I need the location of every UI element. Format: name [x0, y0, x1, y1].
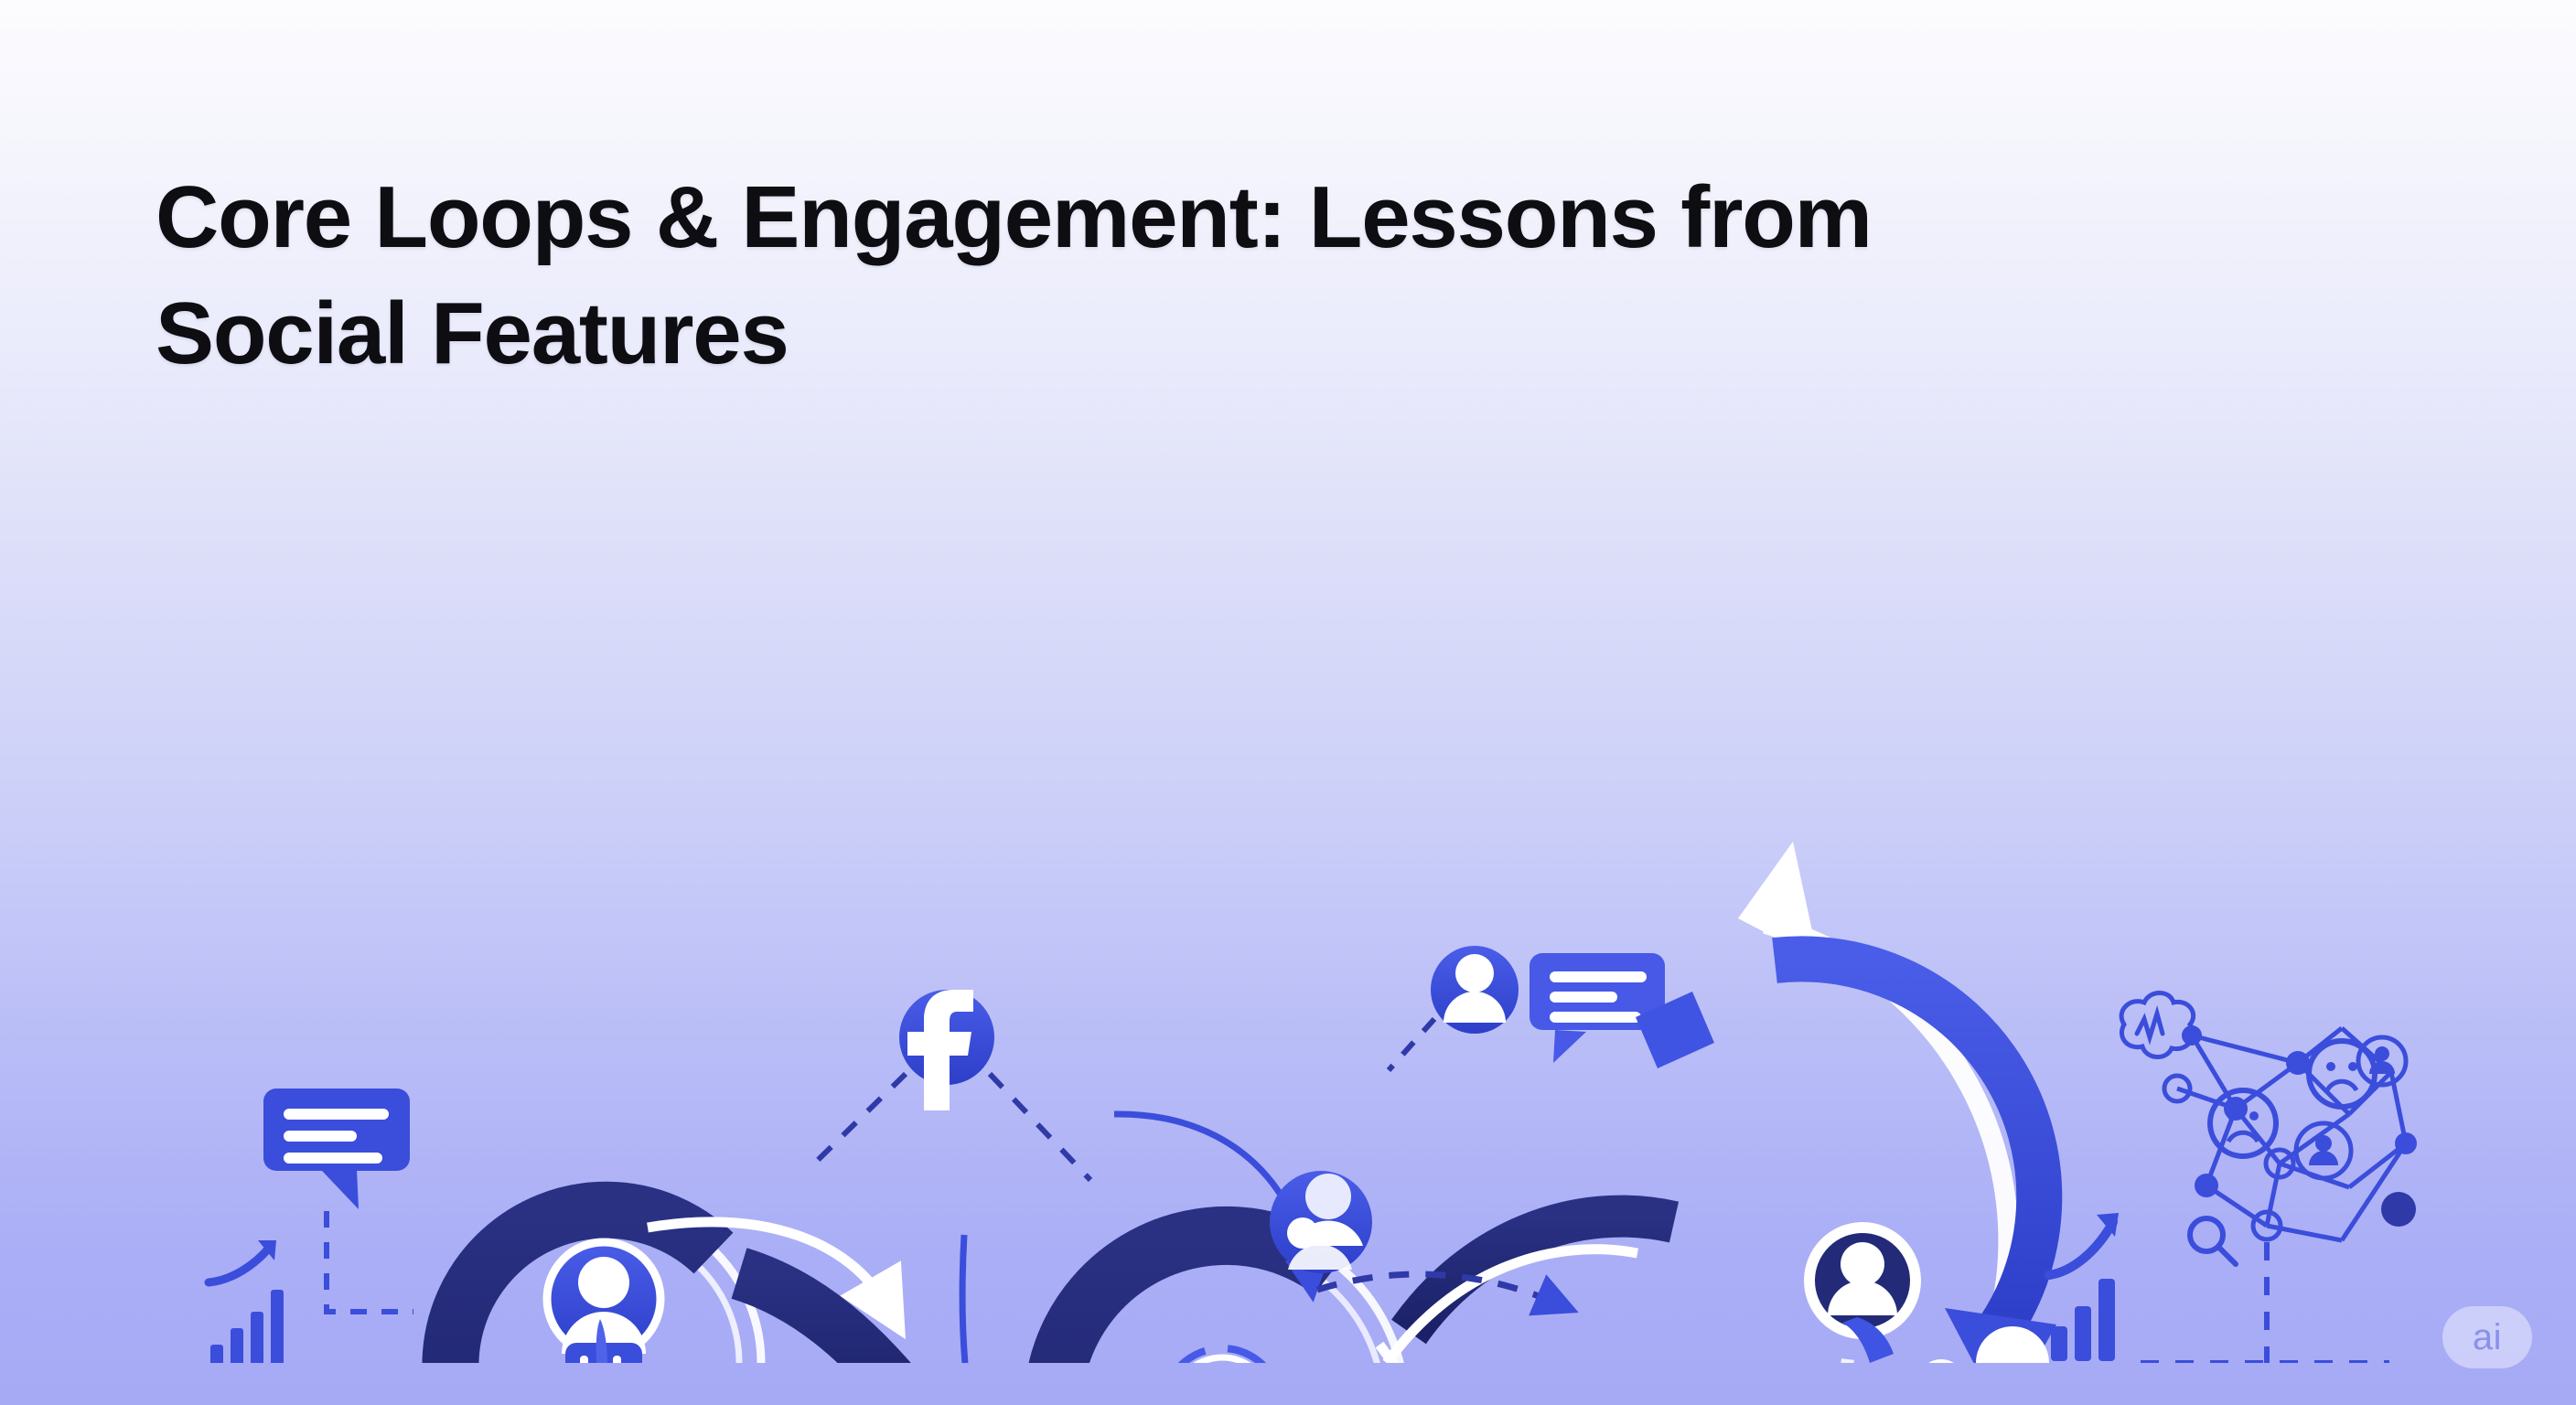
growth-chart-icon: [209, 1240, 284, 1363]
chat-bubble-icon: [1529, 953, 1665, 1063]
right-engagement-loop: [1317, 842, 2126, 1363]
center-engagement-loop: [962, 1114, 1405, 1363]
user-search-icon: [1809, 1228, 1916, 1363]
title-line-2: Social Features: [156, 276, 2351, 392]
user-group-avatar-icon: [1270, 1171, 1372, 1273]
page-title: Core Loops & Engagement: Lessons from So…: [156, 160, 2351, 391]
ai-watermark-badge: ai: [2442, 1306, 2532, 1368]
dashed-connector: [327, 1211, 413, 1312]
user-message-icon: [1431, 946, 1519, 1034]
far-right-icon-cluster: [2121, 993, 2417, 1364]
sentiment-network-nodes: [2121, 993, 2417, 1240]
dashed-connector: [1389, 1019, 1434, 1070]
search-magnifier-icon: [2190, 1218, 2236, 1264]
right-top-icon-cluster: [1389, 946, 1665, 1070]
title-line-1: Core Loops & Engagement: Lessons from: [156, 160, 2351, 276]
engagement-loops-illustration: HABIT: [0, 448, 2576, 1363]
dashed-connector: [807, 1074, 906, 1171]
ai-watermark-label: ai: [2473, 1319, 2502, 1356]
user-avatar-ring-icon: [1140, 1325, 1304, 1363]
dashed-connector: [990, 1074, 1090, 1180]
growth-chart-icon: [2049, 1213, 2119, 1361]
chat-bubble-icon: [263, 1089, 410, 1209]
facebook-icon: [899, 990, 994, 1110]
left-icon-cluster: [209, 1089, 443, 1363]
people-group-icon: [1905, 1326, 2126, 1363]
